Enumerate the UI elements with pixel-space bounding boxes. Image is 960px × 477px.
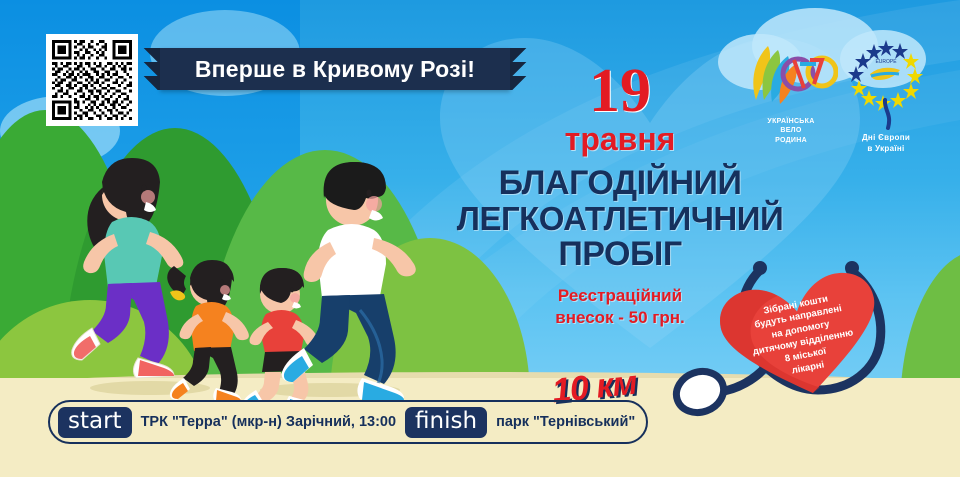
route-bar: start ТРК "Терра" (мкр-н) Зарічний, 13:0… [48, 400, 648, 444]
qr-code-icon [52, 40, 132, 120]
eu-stars-flower-logo-icon: EUROPE [838, 30, 934, 130]
svg-text:EUROPE: EUROPE [875, 59, 897, 65]
title-line-1: БЛАГОДІЙНИЙ [420, 166, 820, 200]
running-family-illustration [30, 150, 450, 400]
event-poster: Вперше в Кривому Розі! УКРАЇНСЬКА ВЕЛО Р… [0, 0, 960, 477]
start-pill: start [58, 407, 132, 438]
qr-code[interactable] [46, 34, 138, 126]
runner-mother [72, 158, 184, 378]
logo-days-of-europe[interactable]: EUROPE Дні Європи в Україні [838, 30, 934, 155]
logo-caption-line: Дні Європи [838, 133, 934, 144]
logo-caption-line: в Україні [838, 144, 934, 155]
finish-pill: finish [405, 407, 487, 438]
runner-boy [242, 268, 319, 400]
finish-location: парк "Тернівський" [496, 414, 635, 430]
start-location: ТРК "Терра" (мкр-н) Зарічний, 13:00 [141, 414, 396, 430]
event-month: травня [420, 123, 820, 157]
event-day: 19 [420, 62, 820, 121]
title-line-2: ЛЕГКОАТЛЕТИЧНИЙ [420, 202, 820, 235]
logo-caption: Дні Європи в Україні [838, 133, 934, 155]
runner-girl [167, 260, 249, 400]
